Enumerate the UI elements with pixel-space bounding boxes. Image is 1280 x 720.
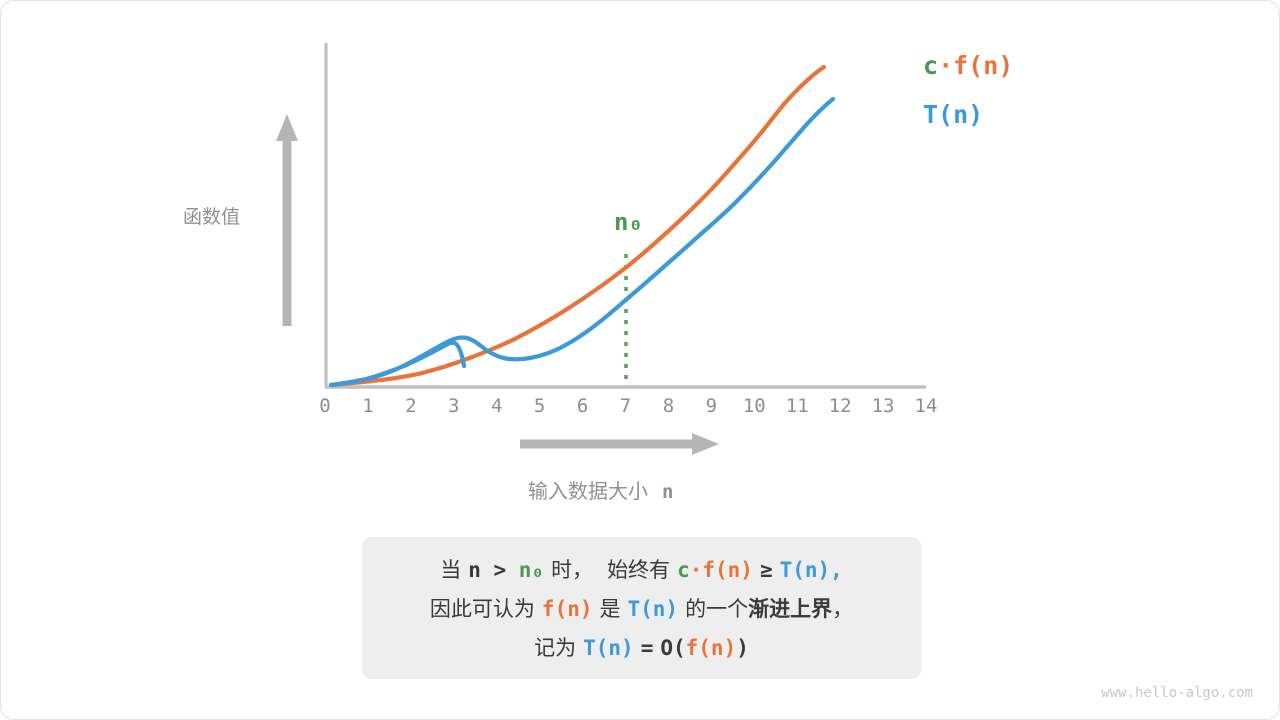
caption-l2-t2: 是 xyxy=(600,598,621,621)
x-tick-13: 13 xyxy=(872,395,895,417)
caption-l1-fn: ·f(n) xyxy=(690,558,753,582)
caption-line-2: 因此可认为f(n)是T(n)的一个渐进上界， xyxy=(430,590,853,629)
x-tick-9: 9 xyxy=(706,395,717,417)
x-tick-12: 12 xyxy=(829,395,852,417)
caption-l3-eq: = xyxy=(641,636,654,660)
caption-line-3: 记为T(n)=O(f(n)) xyxy=(534,629,749,668)
x-tick-5: 5 xyxy=(534,395,545,417)
y-axis-label: 函数值 xyxy=(183,202,240,229)
caption-l1-t1: 当 xyxy=(440,559,461,582)
x-tick-4: 4 xyxy=(491,395,502,417)
x-tick-10: 10 xyxy=(743,395,766,417)
x-axis-label-var: n xyxy=(662,481,673,503)
caption-l2-fn: f(n) xyxy=(542,597,593,621)
x-axis-label-text: 输入数据大小 xyxy=(528,481,648,503)
x-tick-6: 6 xyxy=(577,395,588,417)
x-tick-1: 1 xyxy=(362,395,373,417)
x-axis-arrow xyxy=(520,433,719,455)
caption-l3-o-open: O( xyxy=(660,636,685,660)
x-axis-label: 输入数据大小n xyxy=(528,475,673,504)
caption-l3-t1: 记为 xyxy=(534,637,576,660)
caption-l3-fn: f(n) xyxy=(686,636,737,660)
caption-l3-o-close: ) xyxy=(736,636,749,660)
x-tick-14: 14 xyxy=(915,395,938,417)
x-tick-3: 3 xyxy=(448,395,459,417)
y-axis-arrow xyxy=(276,114,298,326)
caption-l2-t4: ， xyxy=(832,598,853,621)
curve-label-cfn-c: c xyxy=(923,51,938,80)
caption-l2-bold: 渐进上界 xyxy=(748,598,832,621)
caption-l1-n0: n₀ xyxy=(519,558,544,582)
x-axis-tick-labels: 01234567891011121314 xyxy=(325,395,926,421)
caption-l1-m1: n > xyxy=(468,558,519,582)
caption-l1-t3: 始终有 xyxy=(607,559,670,582)
caption-l3-tn: T(n) xyxy=(583,636,634,660)
caption-l2-t1: 因此可认为 xyxy=(430,598,535,621)
caption-l1-tn: T(n), xyxy=(780,558,843,582)
watermark: www.hello-algo.com xyxy=(1101,685,1253,701)
curve-label-cfn-fn: ·f(n) xyxy=(938,51,1013,80)
caption-l2-tn: T(n) xyxy=(628,597,679,621)
x-tick-2: 2 xyxy=(405,395,416,417)
x-tick-11: 11 xyxy=(786,395,809,417)
x-tick-7: 7 xyxy=(620,395,631,417)
caption-box: 当n > n₀时，始终有c·f(n)≥T(n), 因此可认为f(n)是T(n)的… xyxy=(362,537,921,679)
curve-label-tn: T(n) xyxy=(923,100,983,129)
caption-l2-t3: 的一个 xyxy=(685,598,748,621)
x-tick-8: 8 xyxy=(663,395,674,417)
caption-line-1: 当n > n₀时，始终有c·f(n)≥T(n), xyxy=(440,551,843,590)
curve-label-cfn: c·f(n) xyxy=(923,51,1013,80)
caption-l1-c: c xyxy=(677,558,690,582)
curve-tn xyxy=(331,99,833,385)
caption-l1-ge: ≥ xyxy=(760,558,773,582)
x-tick-0: 0 xyxy=(319,395,330,417)
n0-label: n₀ xyxy=(614,208,643,236)
figure-canvas: c·f(n) T(n) n₀ 01234567891011121314 函数值 … xyxy=(0,0,1280,720)
caption-l1-t2: 时， xyxy=(551,559,593,582)
